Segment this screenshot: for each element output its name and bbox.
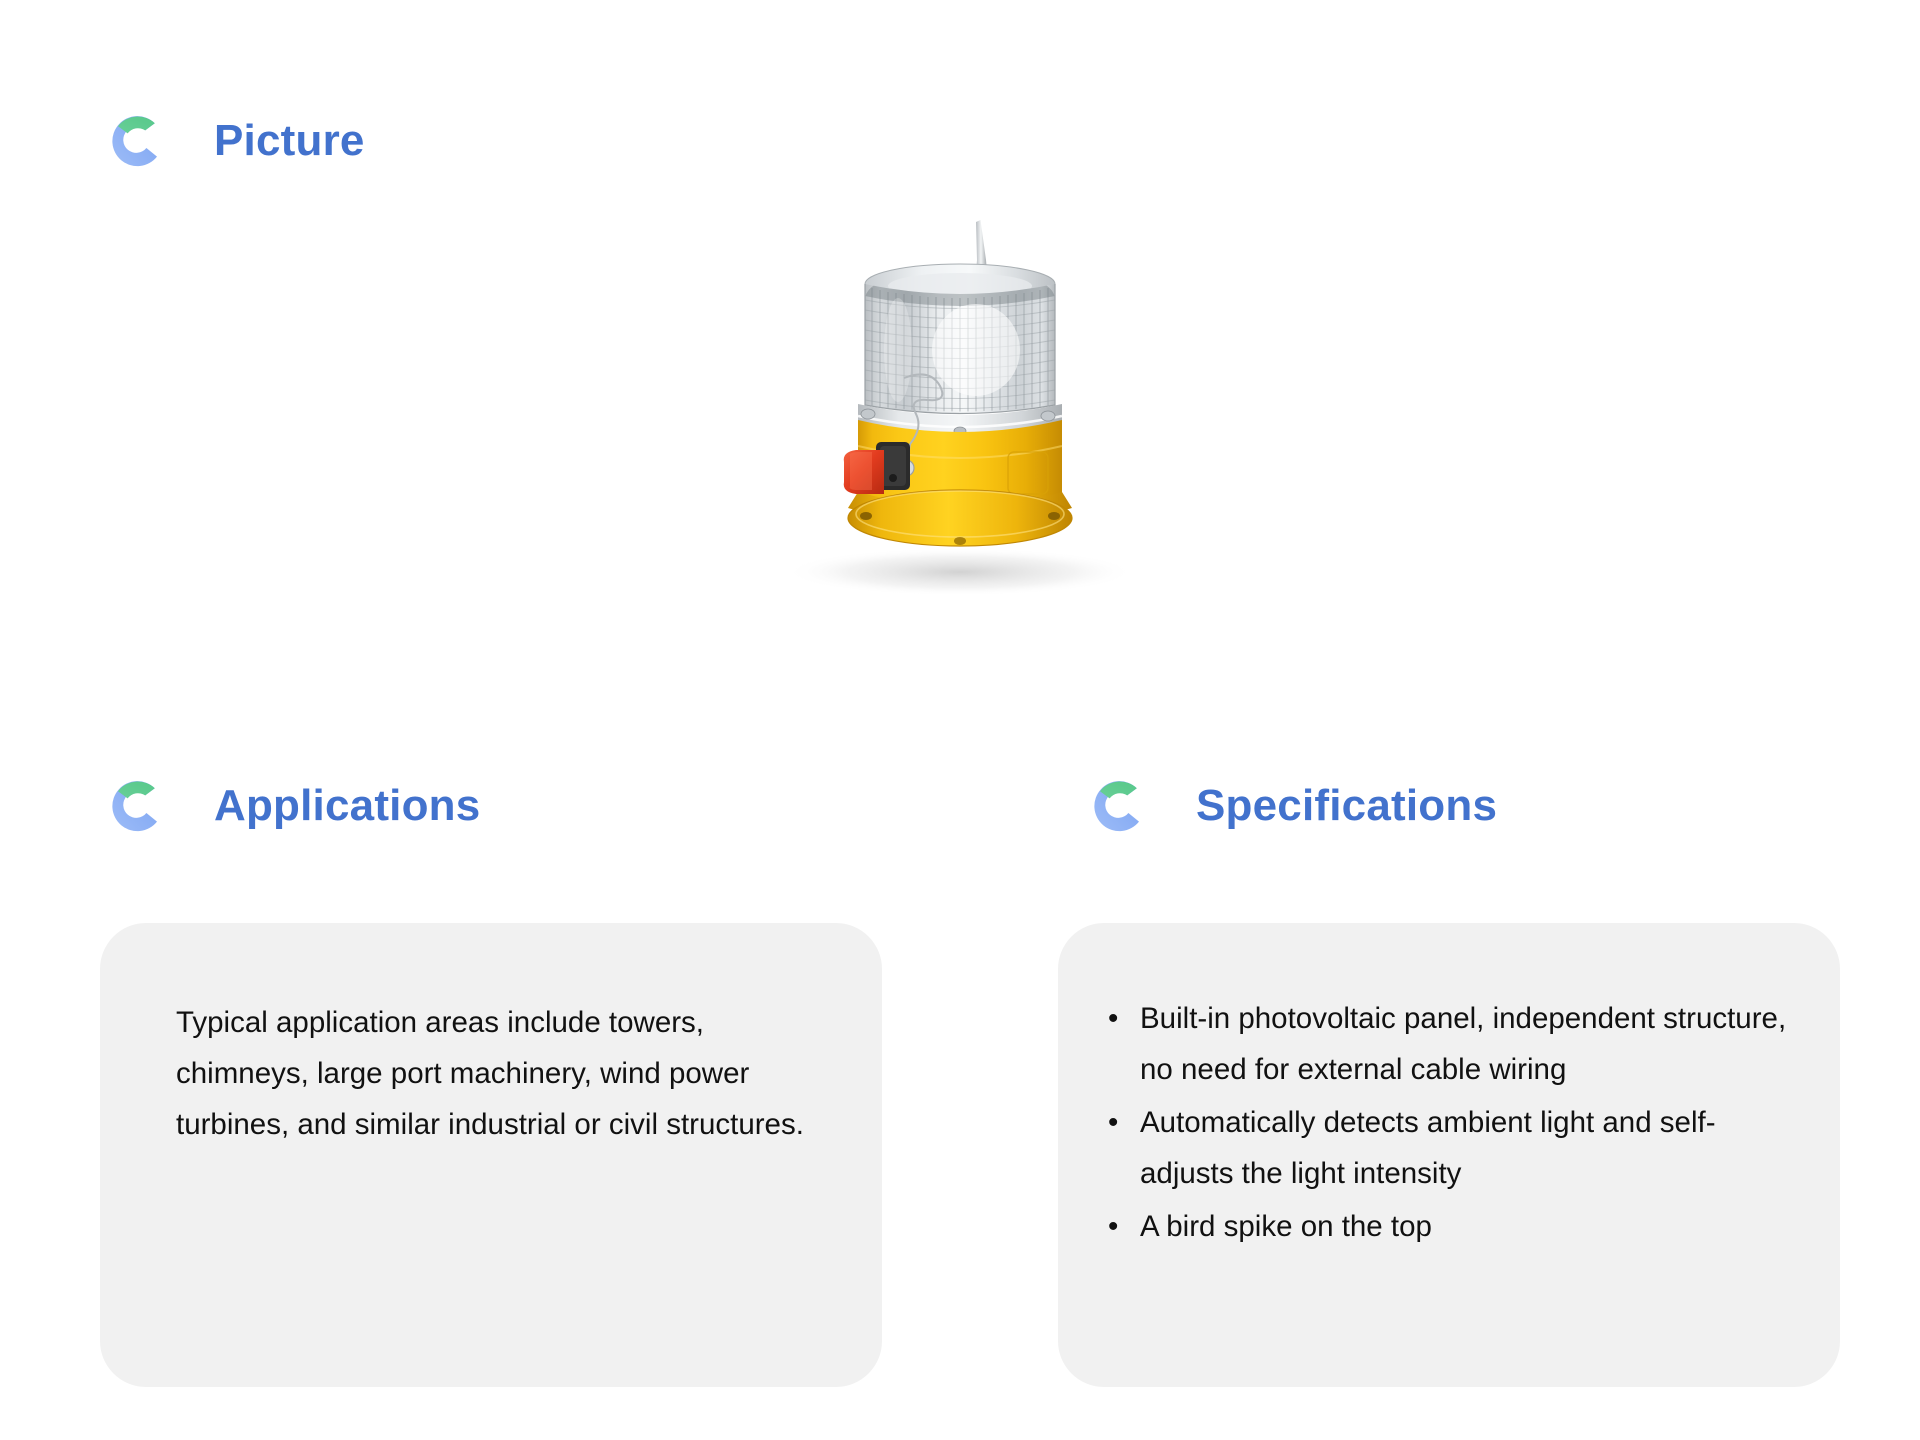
applications-section-title: Applications: [214, 784, 480, 828]
specifications-section-header: Specifications: [1086, 775, 1497, 837]
obstruction-light-photo: [700, 190, 1220, 610]
applications-section-header: Applications: [104, 775, 480, 837]
specifications-list: • Built-in photovoltaic panel, independe…: [1090, 993, 1800, 1252]
red-switch: [844, 450, 884, 494]
specifications-card: • Built-in photovoltaic panel, independe…: [1058, 923, 1840, 1387]
list-item-label: Automatically detects ambient light and …: [1140, 1106, 1716, 1190]
picture-section-header: Picture: [104, 110, 365, 172]
list-item: • A bird spike on the top: [1090, 1201, 1800, 1252]
bullet-icon: •: [1108, 1201, 1118, 1252]
specifications-section-title: Specifications: [1196, 784, 1497, 828]
product-picture: [700, 190, 1220, 610]
list-item: • Built-in photovoltaic panel, independe…: [1090, 993, 1800, 1095]
mounting-flange: [848, 490, 1072, 546]
c-ring-logo-icon: [104, 775, 166, 837]
c-ring-logo-icon: [104, 110, 166, 172]
picture-section-title: Picture: [214, 119, 365, 163]
list-item-label: Built-in photovoltaic panel, independent…: [1140, 1002, 1786, 1086]
bullet-icon: •: [1108, 993, 1118, 1044]
bullet-icon: •: [1108, 1097, 1118, 1148]
applications-body-text: Typical application areas include towers…: [176, 997, 826, 1150]
fresnel-lens-dome: [865, 284, 1055, 419]
c-ring-logo-icon: [1086, 775, 1148, 837]
list-item-label: A bird spike on the top: [1140, 1210, 1432, 1243]
list-item: • Automatically detects ambient light an…: [1090, 1097, 1800, 1199]
applications-card: Typical application areas include towers…: [100, 923, 882, 1387]
